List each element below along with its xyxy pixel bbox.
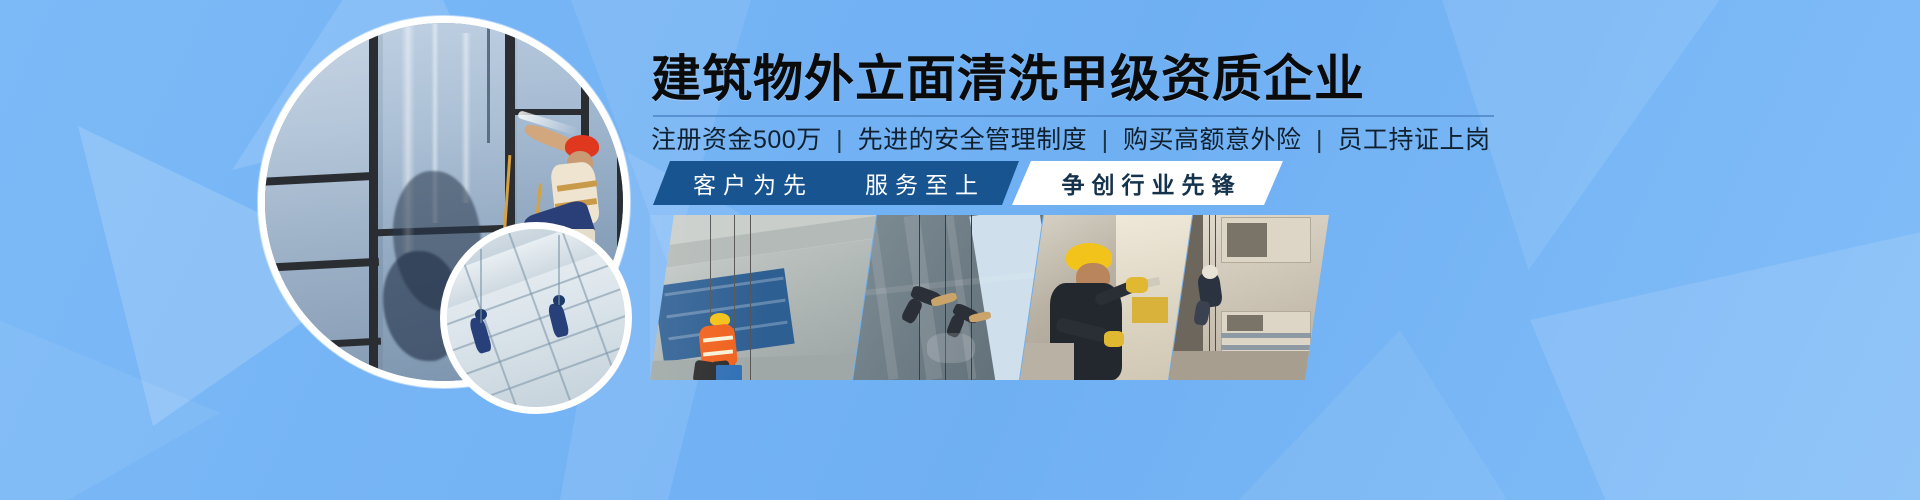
subtitle-item-1: 先进的安全管理制度 xyxy=(858,126,1088,154)
promotional-banner: 建筑物外立面清洗甲级资质企业 注册资金500万 | 先进的安全管理制度 | 购买… xyxy=(0,0,1920,500)
strip-photo-3 xyxy=(1020,215,1192,380)
photo-strip xyxy=(650,215,1286,380)
subtitle-item-2: 购买高额意外险 xyxy=(1123,126,1302,154)
strip-photo-4 xyxy=(1169,215,1329,380)
page-title: 建筑物外立面清洗甲级资质企业 xyxy=(651,50,1511,108)
slogan-bar: 客户为先 服务至上 争创行业先锋 xyxy=(653,161,1283,205)
slogan-bar-secondary: 争创行业先锋 xyxy=(1012,161,1283,205)
title-divider xyxy=(653,115,1494,117)
slogan-text-2: 争创行业先锋 xyxy=(1054,166,1242,200)
strip-photo-2 xyxy=(853,215,1043,380)
slogan-text-0: 客户为先 xyxy=(687,166,813,200)
subtitle-separator-0: | xyxy=(829,126,850,154)
subtitle-item-3: 员工持证上岗 xyxy=(1337,126,1490,154)
slogan-bar-primary: 客户为先 服务至上 xyxy=(653,161,1019,205)
subtitle-separator-2: | xyxy=(1309,126,1330,154)
subtitle-item-0: 注册资金500万 xyxy=(651,126,822,154)
subtitle: 注册资金500万 | 先进的安全管理制度 | 购买高额意外险 | 员工持证上岗 xyxy=(651,123,1490,157)
photo-facade-workers xyxy=(447,229,625,407)
circle-photo-facade-workers xyxy=(440,222,632,414)
strip-photo-1 xyxy=(650,215,876,380)
slogan-text-1: 服务至上 xyxy=(859,166,985,200)
subtitle-separator-1: | xyxy=(1095,126,1116,154)
